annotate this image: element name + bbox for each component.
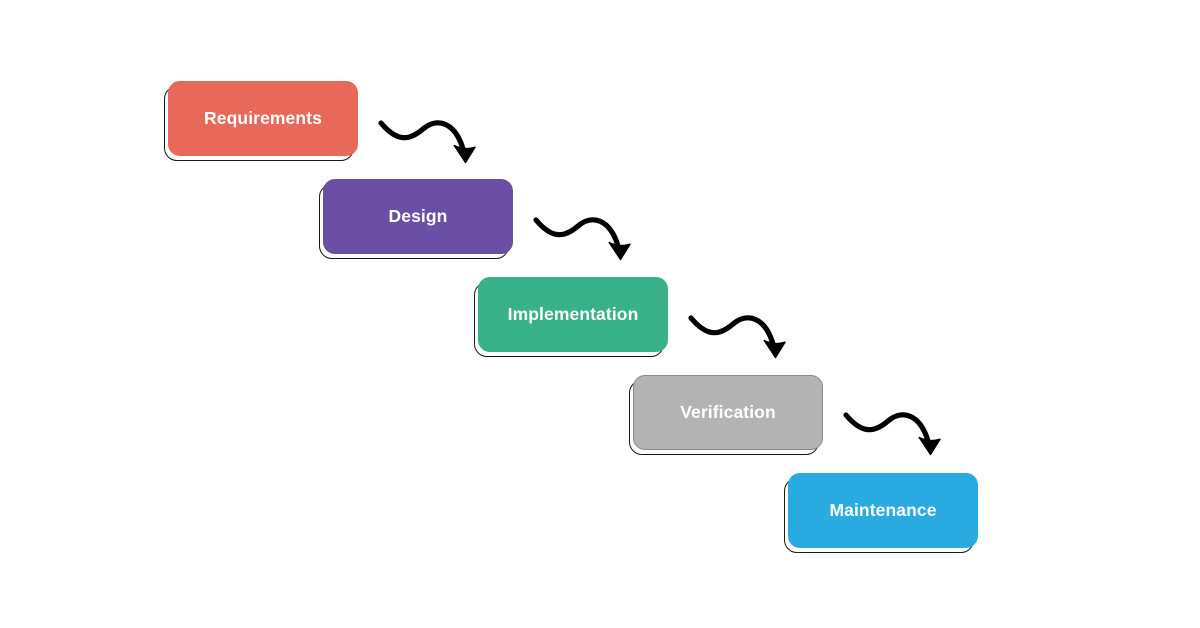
- arrow-design-to-implementation: [530, 202, 650, 277]
- stage-label: Verification: [680, 404, 776, 422]
- stage-maintenance[interactable]: Maintenance: [788, 473, 978, 548]
- arrow-curve-path: [691, 318, 773, 344]
- stage-fill: Design: [323, 179, 513, 254]
- arrow-head: [919, 438, 940, 455]
- stage-fill: Requirements: [168, 81, 358, 156]
- arrow-curve-path: [381, 123, 463, 149]
- stage-label: Requirements: [204, 110, 322, 128]
- stage-requirements[interactable]: Requirements: [168, 81, 358, 156]
- stage-label: Maintenance: [829, 502, 936, 520]
- stage-verification[interactable]: Verification: [633, 375, 823, 450]
- arrow-verification-to-maintenance: [840, 397, 960, 472]
- arrow-head: [609, 243, 630, 260]
- stage-label: Implementation: [508, 306, 639, 324]
- stage-implementation[interactable]: Implementation: [478, 277, 668, 352]
- arrow-curve-path: [846, 415, 928, 441]
- arrow-head: [764, 341, 785, 358]
- arrow-curve-path: [536, 220, 618, 246]
- stage-fill: Maintenance: [788, 473, 978, 548]
- stage-design[interactable]: Design: [323, 179, 513, 254]
- waterfall-diagram: Requirements Design Implementation Verif…: [0, 0, 1200, 628]
- stage-label: Design: [389, 208, 448, 226]
- arrow-head: [454, 146, 475, 163]
- stage-fill: Verification: [633, 375, 823, 450]
- arrow-implementation-to-verification: [685, 300, 805, 375]
- stage-fill: Implementation: [478, 277, 668, 352]
- arrow-requirements-to-design: [375, 105, 495, 180]
